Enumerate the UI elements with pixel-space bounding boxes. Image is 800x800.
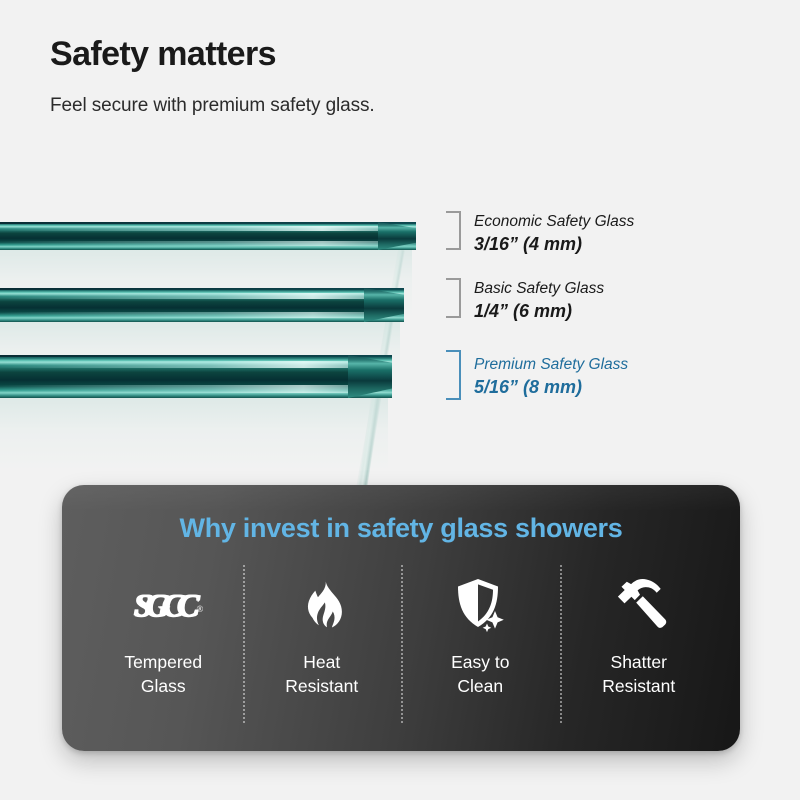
feature-label: Shatter Resistant	[602, 651, 675, 698]
callout-bracket	[446, 278, 461, 318]
callout-text-block: Basic Safety Glass 1/4” (6 mm)	[474, 279, 604, 324]
callout-spec: 5/16” (8 mm)	[474, 374, 628, 399]
feature-card: Why invest in safety glass showers SGCC …	[62, 485, 740, 751]
glass-pane-body-3	[0, 398, 388, 470]
callout-name: Premium Safety Glass	[474, 355, 628, 374]
card-heading: Why invest in safety glass showers	[62, 513, 740, 544]
glass-edge-gloss	[0, 226, 416, 231]
glass-edge-topline	[0, 355, 392, 357]
page-subtitle: Feel secure with premium safety glass.	[50, 75, 750, 117]
glass-edge-gloss	[0, 361, 392, 368]
hammer-icon	[608, 575, 670, 637]
callout-bracket	[446, 350, 461, 400]
page-header: Safety matters Feel secure with premium …	[50, 34, 750, 117]
flame-icon	[299, 575, 345, 637]
feature-label: Heat Resistant	[285, 651, 358, 698]
glass-edge-gloss	[0, 241, 416, 246]
registered-trademark-icon: ®	[197, 604, 204, 614]
glass-pane-edge-3	[0, 355, 392, 398]
glass-pane-edge-2	[0, 288, 404, 322]
feature-item-easy-to-clean[interactable]: Easy to Clean	[401, 571, 560, 729]
feature-label: Easy to Clean	[451, 651, 509, 698]
callout-name: Basic Safety Glass	[474, 279, 604, 298]
feature-item-shatter-resistant[interactable]: Shatter Resistant	[560, 571, 719, 729]
feature-item-tempered-glass[interactable]: SGCC ® Tempered Glass	[84, 571, 243, 729]
feature-item-heat-resistant[interactable]: Heat Resistant	[243, 571, 402, 729]
callout-spec: 3/16” (4 mm)	[474, 231, 634, 256]
callout-text-block: Economic Safety Glass 3/16” (4 mm)	[474, 212, 634, 257]
sgcc-wordmark: SGCC	[134, 588, 192, 625]
sgcc-certification-icon: SGCC ®	[134, 575, 192, 637]
glass-pane-edge-1	[0, 222, 416, 250]
callout-bracket	[446, 211, 461, 250]
callout-spec: 1/4” (6 mm)	[474, 298, 604, 323]
glass-edge-topline	[0, 222, 416, 224]
glass-edge-topline	[0, 288, 404, 290]
glass-edge-gloss	[0, 312, 404, 318]
page-title: Safety matters	[50, 34, 750, 75]
glass-edge-gloss	[0, 385, 392, 393]
shield-sparkle-icon	[451, 575, 509, 637]
feature-label: Tempered Glass	[124, 651, 202, 698]
glass-edge-gloss	[0, 293, 404, 299]
feature-list: SGCC ® Tempered Glass Heat Resistant	[84, 571, 718, 729]
callout-name: Economic Safety Glass	[474, 212, 634, 231]
callout-text-block: Premium Safety Glass 5/16” (8 mm)	[474, 355, 628, 400]
